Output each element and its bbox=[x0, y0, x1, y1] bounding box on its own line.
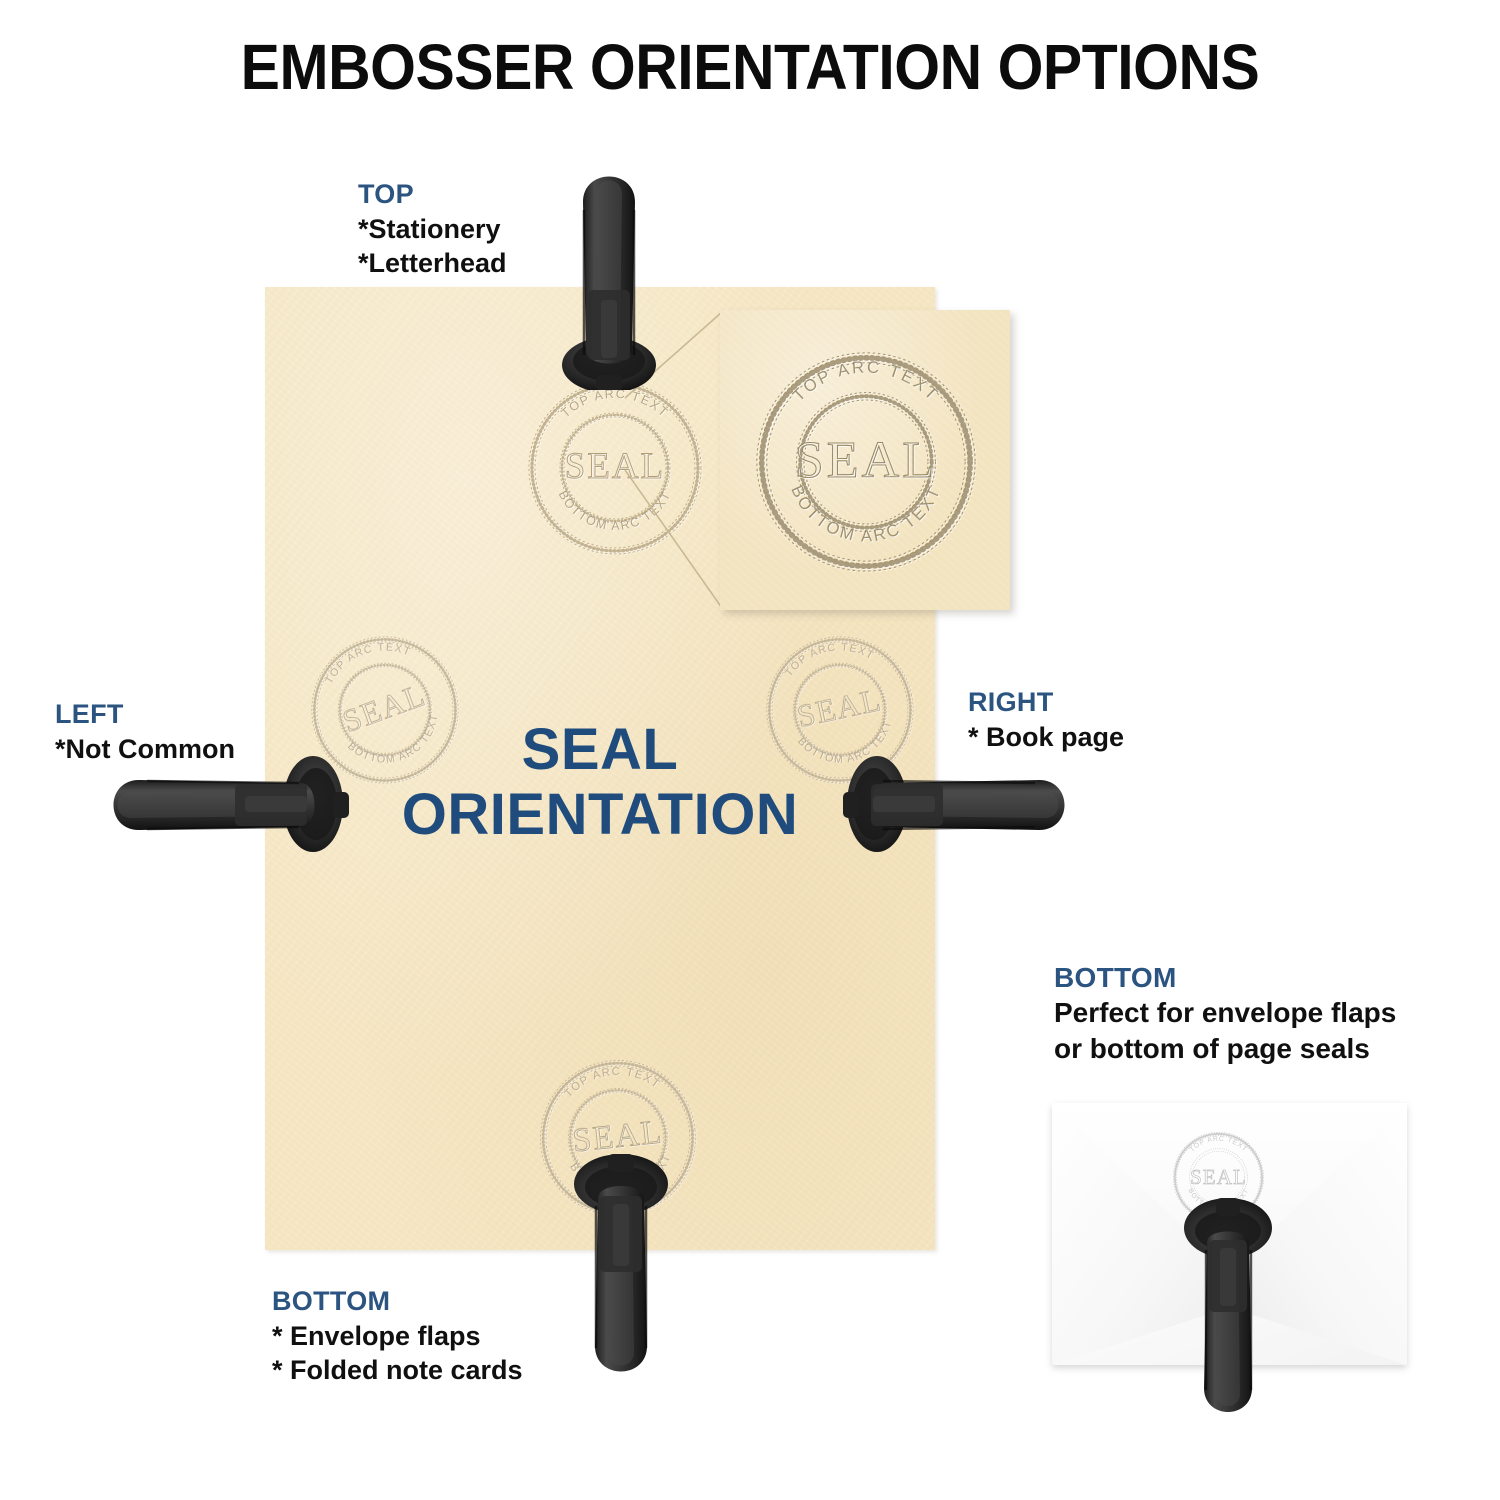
label-right-line-1: * Book page bbox=[968, 720, 1124, 755]
seal-top-arc-text: TOP ARC TEXT bbox=[789, 357, 943, 405]
label-top: TOP *Stationery *Letterhead bbox=[358, 178, 507, 281]
label-right-heading: RIGHT bbox=[968, 686, 1124, 720]
label-top-heading: TOP bbox=[358, 178, 507, 212]
label-bottom-page: BOTTOM * Envelope flaps * Folded note ca… bbox=[272, 1285, 523, 1388]
label-bottom-envelope-line-2: or bottom of page seals bbox=[1054, 1031, 1396, 1067]
label-bottom-page-heading: BOTTOM bbox=[272, 1285, 523, 1319]
label-bottom-envelope: BOTTOM Perfect for envelope flaps or bot… bbox=[1054, 960, 1396, 1067]
label-left-heading: LEFT bbox=[55, 698, 235, 732]
label-top-line-1: *Stationery bbox=[358, 212, 507, 247]
seal-center-text: SEAL bbox=[795, 432, 938, 489]
infographic-canvas: EMBOSSER ORIENTATION OPTIONS TOP bbox=[0, 0, 1500, 1500]
label-bottom-envelope-line-1: Perfect for envelope flaps bbox=[1054, 995, 1396, 1031]
seal-impression-magnified: TOP ARC TEXT BOTTOM ARC TEXT SEAL bbox=[742, 338, 990, 586]
seal-bottom-arc-text: BOTTOM ARC TEXT bbox=[787, 482, 944, 545]
label-bottom-page-line-1: * Envelope flaps bbox=[272, 1319, 523, 1354]
label-left: LEFT *Not Common bbox=[55, 698, 235, 766]
label-bottom-page-line-2: * Folded note cards bbox=[272, 1353, 523, 1388]
label-top-line-2: *Letterhead bbox=[358, 246, 507, 281]
label-right: RIGHT * Book page bbox=[968, 686, 1124, 754]
magnified-seal-callout: TOP ARC TEXT BOTTOM ARC TEXT SEAL bbox=[720, 310, 1010, 610]
label-bottom-envelope-heading: BOTTOM bbox=[1054, 960, 1396, 995]
label-left-line-1: *Not Common bbox=[55, 732, 235, 767]
envelope: TOP ARC TEXT BOTTOM ARC TEXT SEAL bbox=[1052, 1103, 1407, 1365]
page-title: EMBOSSER ORIENTATION OPTIONS bbox=[60, 30, 1440, 104]
